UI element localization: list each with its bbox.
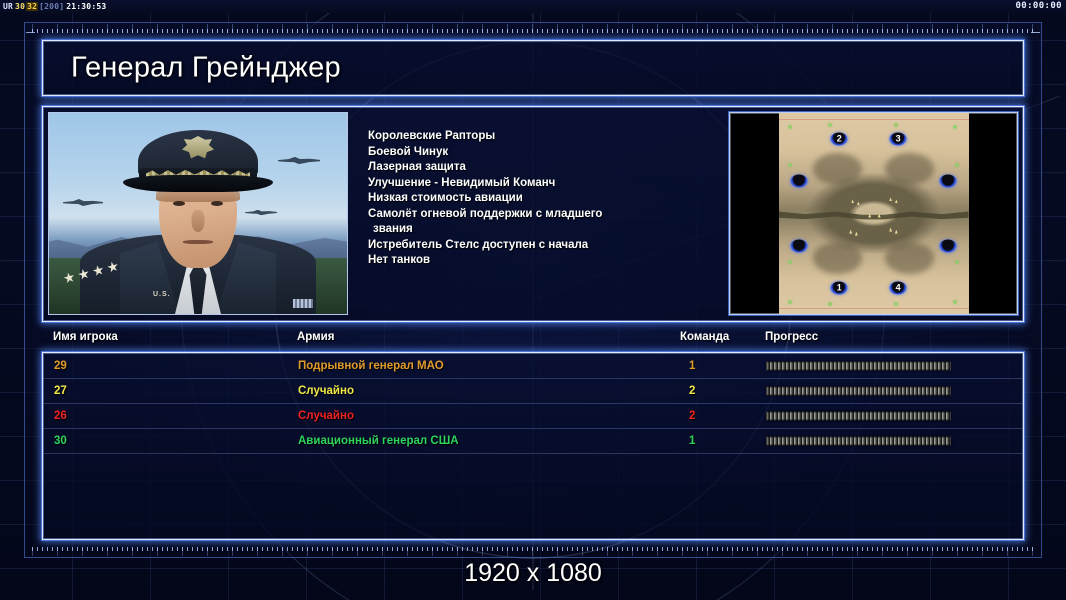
- progress-bar: [766, 387, 951, 396]
- player-name-cell: 27: [54, 385, 67, 397]
- ability-item: Лазерная защита: [368, 160, 688, 176]
- ribbon-bar: [293, 299, 313, 308]
- map-start-position[interactable]: [939, 175, 956, 188]
- ability-item: Самолёт огневой поддержки с младшего: [368, 207, 688, 223]
- map-prop-icon: [851, 199, 854, 203]
- progress-bar: [766, 362, 951, 371]
- army-cell[interactable]: Подрывной генерал МАО: [298, 360, 444, 372]
- column-header-player-name: Имя игрока: [53, 331, 118, 343]
- progress-bar: [766, 412, 951, 421]
- page-title: Генерал Грейнджер: [71, 52, 341, 85]
- table-row[interactable]: 30Авиационный генерал США1: [44, 429, 1022, 454]
- table-row[interactable]: 27Случайно2: [44, 379, 1022, 404]
- map-terrain: 2314: [779, 113, 969, 314]
- army-cell[interactable]: Случайно: [298, 410, 354, 422]
- map-preview-frame: 2314: [729, 112, 1018, 315]
- ability-item: Истребитель Стелс доступен с начала: [368, 238, 688, 254]
- team-cell[interactable]: 2: [689, 385, 695, 397]
- column-header-progress: Прогресс: [765, 331, 818, 343]
- resolution-label: 1920 x 1080: [0, 559, 1066, 588]
- debug-bracket-value: [200]: [38, 2, 65, 11]
- debug-status-strip: UR3032[200]21:30:53 00:00:00: [0, 0, 1066, 13]
- ability-item: Боевой Чинук: [368, 145, 688, 161]
- army-cell[interactable]: Авиационный генерал США: [298, 435, 459, 447]
- player-name-cell: 29: [54, 360, 67, 372]
- map-start-position[interactable]: 4: [890, 281, 907, 294]
- portrait-eye-right: [211, 201, 223, 206]
- map-prop-icon: [878, 214, 881, 218]
- general-info-panel: U.S. К: [42, 106, 1024, 322]
- main-window: Генерал Грейнджер: [24, 22, 1042, 558]
- portrait-nose: [192, 210, 205, 232]
- team-cell[interactable]: 2: [689, 410, 695, 422]
- app-root: UR3032[200]21:30:53 00:00:00 Генерал Гре…: [0, 0, 1066, 600]
- map-prop-icon: [895, 230, 898, 234]
- general-abilities-list: Королевские РапторыБоевой ЧинукЛазерная …: [368, 129, 688, 269]
- map-resource-icon: [788, 300, 791, 303]
- portrait-head: [114, 124, 282, 314]
- army-cell[interactable]: Случайно: [298, 385, 354, 397]
- ability-item: звания: [368, 222, 688, 238]
- map-start-position[interactable]: [939, 239, 956, 252]
- ability-item: Низкая стоимость авиации: [368, 191, 688, 207]
- portrait-cap: [127, 134, 269, 192]
- map-prop-icon: [868, 214, 871, 218]
- match-timer: 00:00:00: [1015, 1, 1062, 12]
- debug-overlay-text: UR3032[200]21:30:53: [2, 1, 107, 12]
- cap-brim: [123, 175, 273, 192]
- map-prop-icon: [889, 197, 892, 201]
- map-resource-icon: [895, 124, 898, 127]
- map-resource-icon: [956, 260, 959, 263]
- team-cell[interactable]: 1: [689, 435, 695, 447]
- map-prop-icon: [895, 199, 898, 203]
- map-resource-icon: [788, 164, 791, 167]
- map-resource-icon: [954, 300, 957, 303]
- map-resource-icon: [788, 126, 791, 129]
- map-start-position[interactable]: 3: [890, 133, 907, 146]
- player-name-cell: 30: [54, 435, 67, 447]
- roster-header-row: Имя игрока Армия Команда Прогресс: [43, 331, 1023, 351]
- table-row[interactable]: 29Подрывной генерал МАО1: [44, 354, 1022, 379]
- debug-fps-alt: 32: [26, 2, 38, 11]
- column-header-team: Команда: [680, 331, 729, 343]
- map-prop-icon: [857, 201, 860, 205]
- map-prop-icon: [849, 230, 852, 234]
- debug-fps: 30: [14, 2, 26, 11]
- map-start-position[interactable]: 1: [831, 281, 848, 294]
- map-start-position[interactable]: [791, 239, 808, 252]
- column-header-army: Армия: [297, 331, 334, 343]
- player-name-cell: 26: [54, 410, 67, 422]
- debug-prefix: UR: [2, 2, 14, 11]
- table-row[interactable]: 26Случайно2: [44, 404, 1022, 429]
- team-cell[interactable]: 1: [689, 360, 695, 372]
- portrait-eye-left: [173, 201, 185, 206]
- map-resource-icon: [828, 302, 831, 305]
- map-marker-layer: 2314: [779, 113, 969, 314]
- map-prop-icon: [889, 228, 892, 232]
- ability-item: Королевские Рапторы: [368, 129, 688, 145]
- map-resource-icon: [956, 164, 959, 167]
- portrait-mouth: [183, 240, 213, 244]
- title-panel: Генерал Грейнджер: [42, 40, 1024, 96]
- map-start-position[interactable]: [791, 175, 808, 188]
- player-roster-panel: Имя игрока Армия Команда Прогресс 29Подр…: [42, 352, 1024, 540]
- general-portrait: U.S.: [48, 112, 348, 315]
- ability-item: Нет танков: [368, 253, 688, 269]
- map-prop-icon: [855, 232, 858, 236]
- ability-item: Улучшение - Невидимый Команч: [368, 176, 688, 192]
- progress-bar: [766, 437, 951, 446]
- debug-clock: 21:30:53: [65, 2, 107, 11]
- map-resource-icon: [828, 124, 831, 127]
- map-resource-icon: [895, 302, 898, 305]
- map-resource-icon: [954, 126, 957, 129]
- roster-rows-container: 29Подрывной генерал МАО127Случайно226Слу…: [44, 354, 1022, 538]
- map-resource-icon: [788, 260, 791, 263]
- map-start-position[interactable]: 2: [831, 133, 848, 146]
